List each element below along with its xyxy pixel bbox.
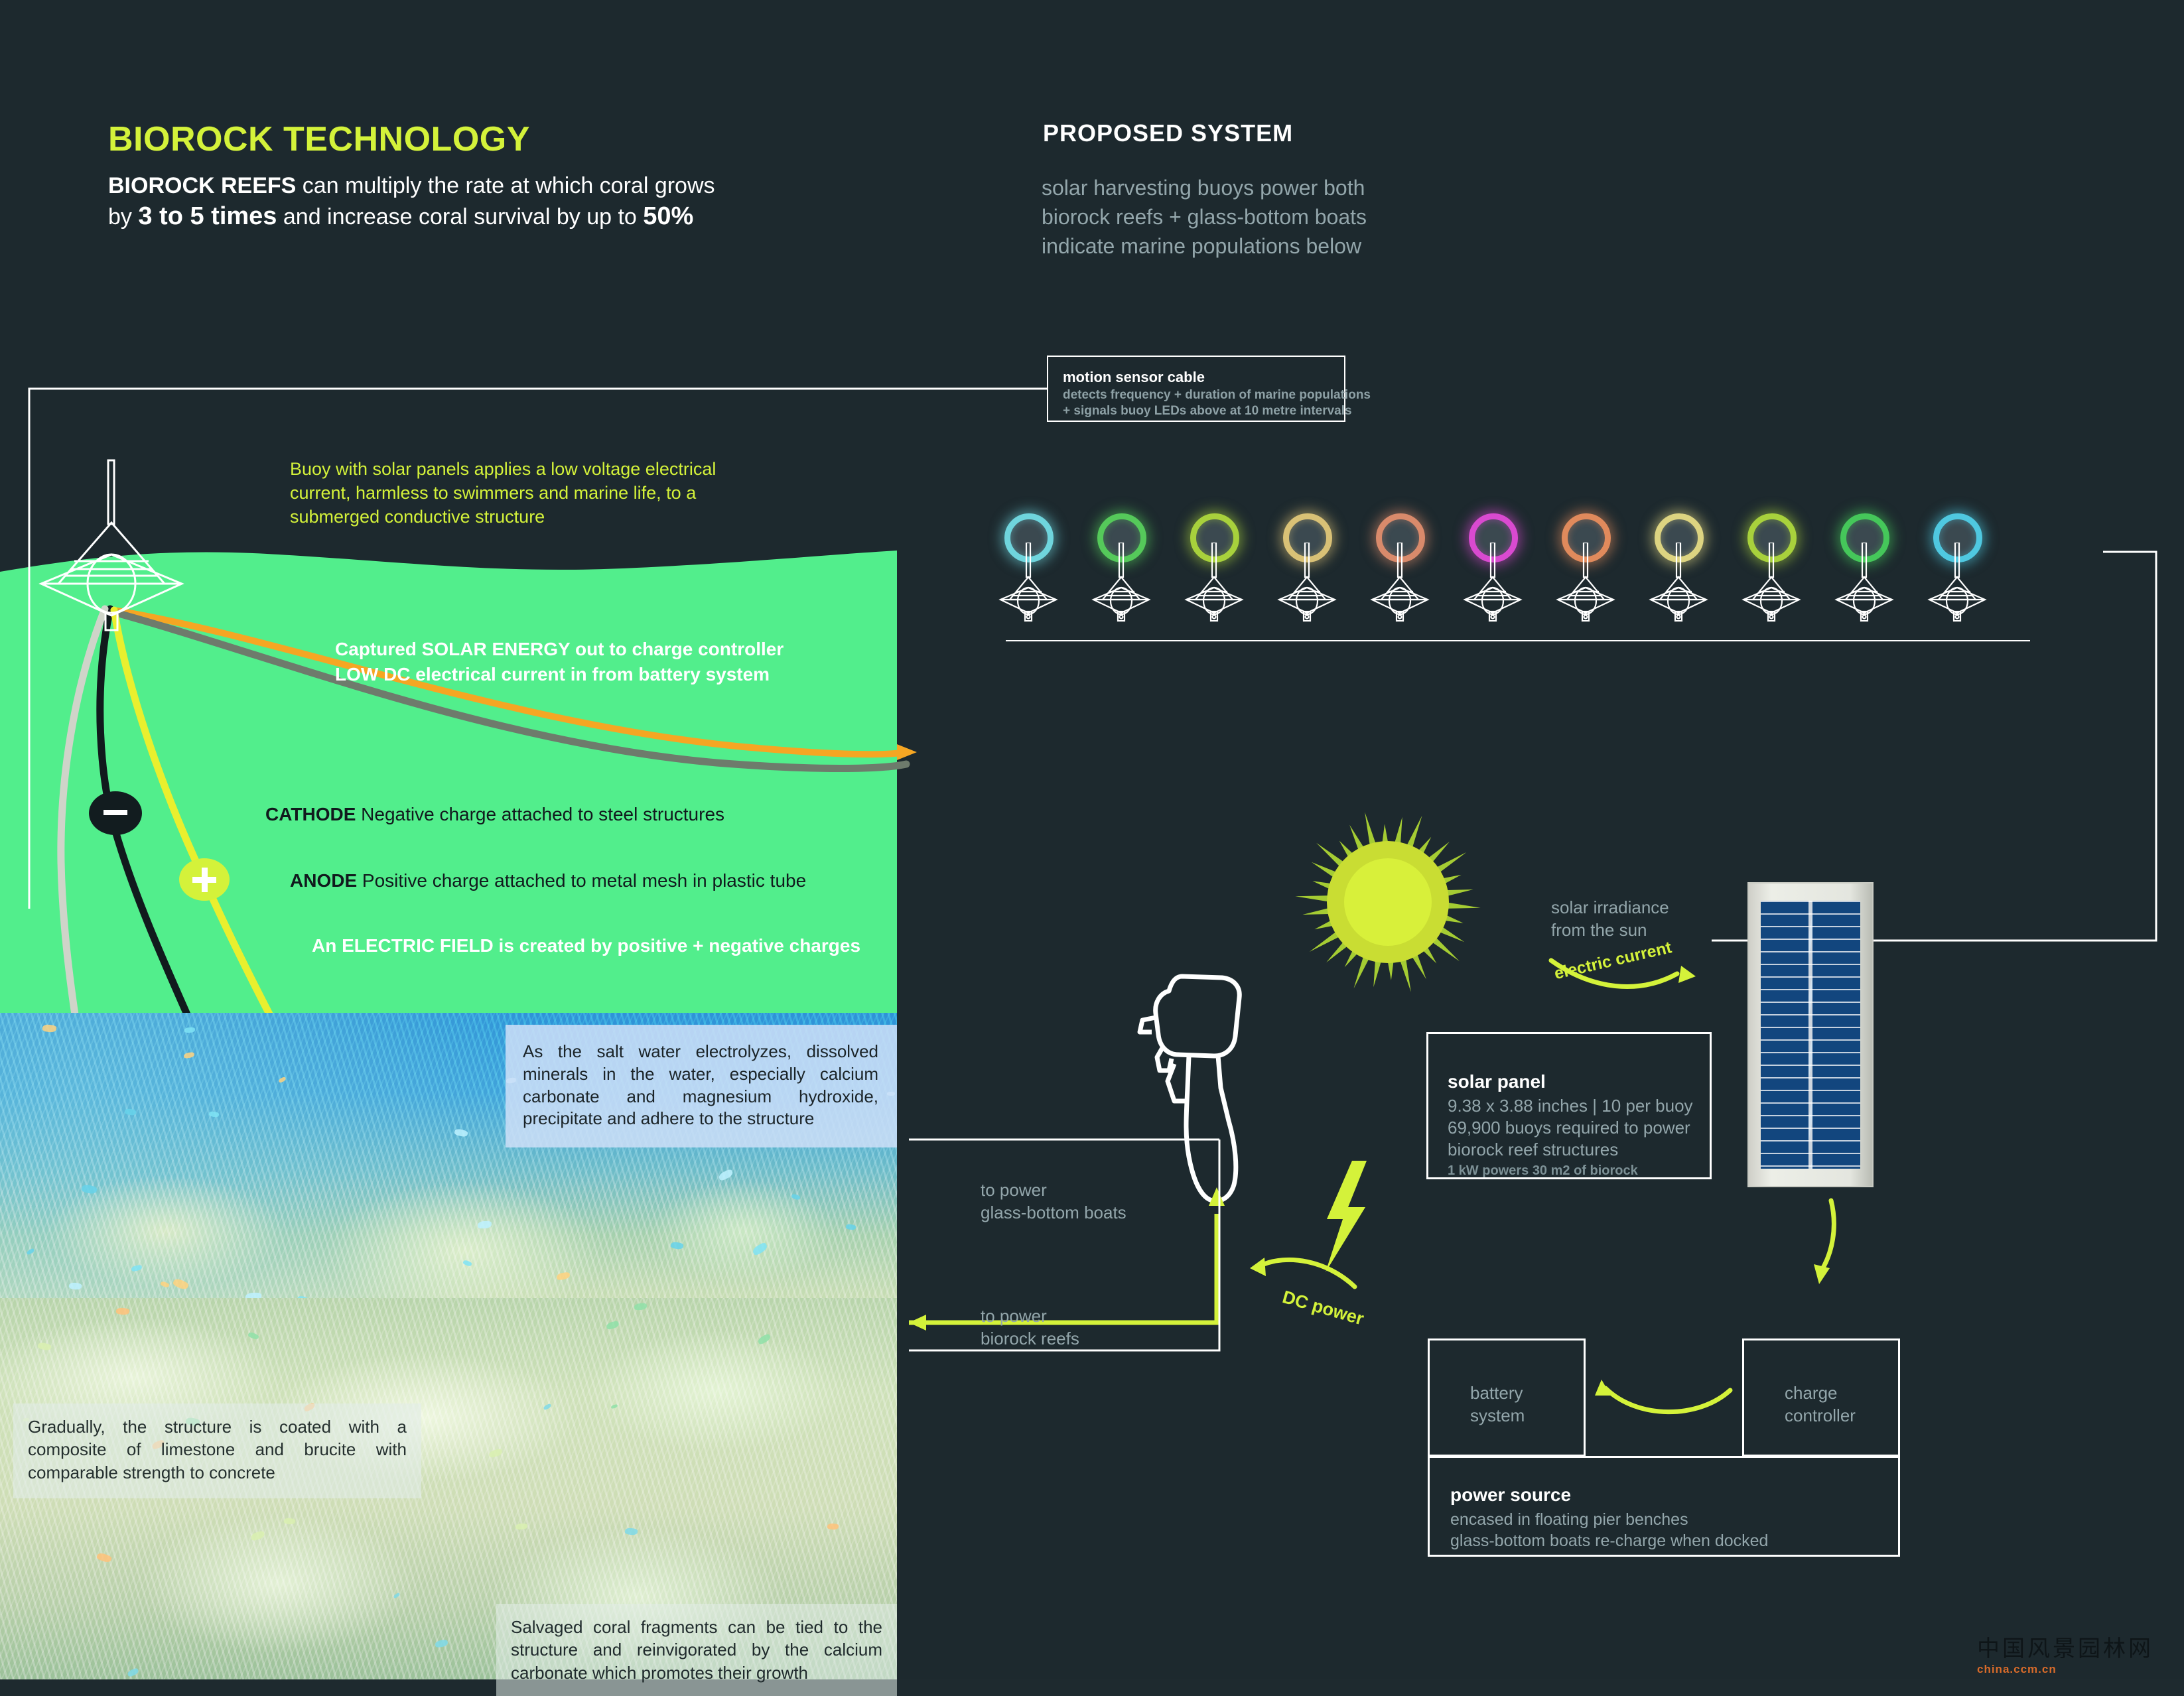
fish [245,1293,261,1298]
subtitle-text-2: by [108,204,138,229]
buoy-icon [1831,543,1917,649]
caption-electrolyze: As the salt water electrolyzes, dissolve… [506,1025,897,1147]
led-buoy-6 [1460,511,1546,663]
to-power-reefs-line-2: biorock reefs [981,1328,1079,1350]
led-buoy-11 [1924,511,2010,663]
caption-gradually: Gradually, the structure is coated with … [13,1403,421,1498]
proposed-system-title: PROPOSED SYSTEM [1043,119,1293,147]
motion-sensor-line-1: detects frequency + duration of marine p… [1063,387,1371,403]
subtitle-text-1: can multiply the rate at which coral gro… [296,173,715,198]
battery-line-2: system [1470,1404,1525,1427]
buoy-icon [1552,543,1639,649]
led-buoy-10 [1831,511,1917,663]
power-source-line-2: glass-bottom boats re-charge when docked [1450,1531,1768,1552]
arrow-battery-controller [1605,1388,1730,1412]
battery-system-label: battery system [1470,1382,1525,1427]
subtitle-strong-reefs: BIOROCK REEFS [108,173,296,198]
solar-energy-line-1: Captured SOLAR ENERGY out to charge cont… [335,637,784,662]
cathode-label: CATHODE [265,804,356,824]
battery-line-1: battery [1470,1382,1525,1404]
solar-panel-spec-3: biorock reef structures [1448,1139,1693,1161]
proposed-system-line-1: solar harvesting buoys power both [1042,174,1367,203]
buoy-icon [1645,543,1732,649]
fish [515,1524,527,1530]
arrow-dc-power [1261,1260,1355,1287]
buoy-icon [995,543,1081,649]
solar-irradiance-label: solar irradiance from the sun [1551,897,1669,942]
solar-irradiance-line-2: from the sun [1551,919,1669,942]
solar-panel-spec-2: 69,900 buoys required to power [1448,1117,1693,1139]
arrow-panel-head [1814,1264,1830,1284]
proposed-system-line-3: indicate marine populations below [1042,232,1367,261]
cathode-text: Negative charge attached to steel struct… [356,804,724,824]
anode-label: ANODE [290,870,357,891]
power-source-line-1: encased in floating pier benches [1450,1510,1768,1531]
solar-irradiance-line-1: solar irradiance [1551,897,1669,919]
sun-icon [1295,812,1480,992]
buoy-icon [1367,543,1453,649]
boat-motor-icon [1140,976,1239,1201]
cable-orange-arrow [897,744,917,760]
led-buoy-5 [1367,511,1453,663]
led-buoy-4 [1274,511,1360,663]
lightning-bolt-icon [1326,1161,1367,1272]
solar-panel-footnote: 1 kW powers 30 m2 of biorock [1448,1163,1638,1179]
led-buoy-3 [1181,511,1267,663]
to-power-boats-label: to power glass-bottom boats [981,1179,1126,1224]
solar-panel-title: solar panel [1448,1071,1546,1092]
to-power-reefs-label: to power biorock reefs [981,1305,1079,1350]
led-buoy-9 [1738,511,1824,663]
watermark: 中国风景园林网 china.ccm.cn [1977,1630,2176,1677]
solar-energy-note: Captured SOLAR ENERGY out to charge cont… [335,637,784,686]
buoy-note: Buoy with solar panels applies a low vol… [290,458,768,529]
subtitle-text-3: and increase coral survival by up to [277,204,643,229]
to-power-boats-line-1: to power [981,1179,1126,1202]
power-source-body: encased in floating pier benches glass-b… [1450,1510,1768,1551]
subtitle-strong-percent: 50% [643,202,693,230]
anode-note: ANODE Positive charge attached to metal … [290,870,806,891]
buoy-icon [1460,543,1546,649]
led-buoy-7 [1552,511,1639,663]
solar-panel-specs: 9.38 x 3.88 inches | 10 per buoy 69,900 … [1448,1095,1693,1161]
electric-field-note: An ELECTRIC FIELD is created by positive… [312,935,860,956]
motion-sensor-body: detects frequency + duration of marine p… [1063,387,1371,419]
arrow-batt-head [1595,1380,1611,1396]
charge-line-1: charge [1785,1382,1856,1404]
to-power-reefs-line-1: to power [981,1305,1079,1328]
motion-sensor-title: motion sensor cable [1063,369,1205,386]
motion-sensor-line-2: + signals buoy LEDs above at 10 metre in… [1063,403,1371,419]
buoy-row [995,511,2043,663]
buoy-icon [1181,543,1267,649]
to-power-boats-line-2: glass-bottom boats [981,1202,1126,1224]
watermark-latin: china.ccm.cn [1977,1663,2176,1676]
arrow-dc-power-head [1250,1258,1266,1276]
power-source-title: power source [1450,1484,1571,1506]
solar-energy-line-2: LOW DC electrical current in from batter… [335,662,784,687]
charge-controller-label: charge controller [1785,1382,1856,1427]
solar-panel-spec-1: 9.38 x 3.88 inches | 10 per buoy [1448,1095,1693,1117]
led-buoy-2 [1088,511,1174,663]
arrow-panel-to-controller [1820,1201,1834,1272]
page-title: BIOROCK TECHNOLOGY [108,119,530,159]
solar-panel-photo [1747,882,1874,1187]
led-buoy-1 [995,511,1081,663]
buoy-icon [1274,543,1360,649]
proposed-system-body: solar harvesting buoys power both bioroc… [1042,174,1367,261]
subtitle-strong-times: 3 to 5 times [138,202,277,230]
watermark-chinese: 中国风景园林网 [1977,1630,2176,1663]
charge-line-2: controller [1785,1404,1856,1427]
cathode-note: CATHODE Negative charge attached to stee… [265,804,724,825]
solar-cells [1761,901,1860,1169]
caption-salvaged: Salvaged coral fragments can be tied to … [496,1604,897,1696]
arrow-electric-current-head [1678,966,1696,983]
led-buoy-8 [1645,511,1732,663]
buoy-icon [1088,543,1174,649]
proposed-system-line-2: biorock reefs + glass-bottom boats [1042,203,1367,232]
buoy-icon [1738,543,1824,649]
buoy-icon [1924,543,2010,649]
page-subtitle: BIOROCK REEFS can multiply the rate at w… [108,171,715,233]
anode-text: Positive charge attached to metal mesh i… [357,870,806,891]
